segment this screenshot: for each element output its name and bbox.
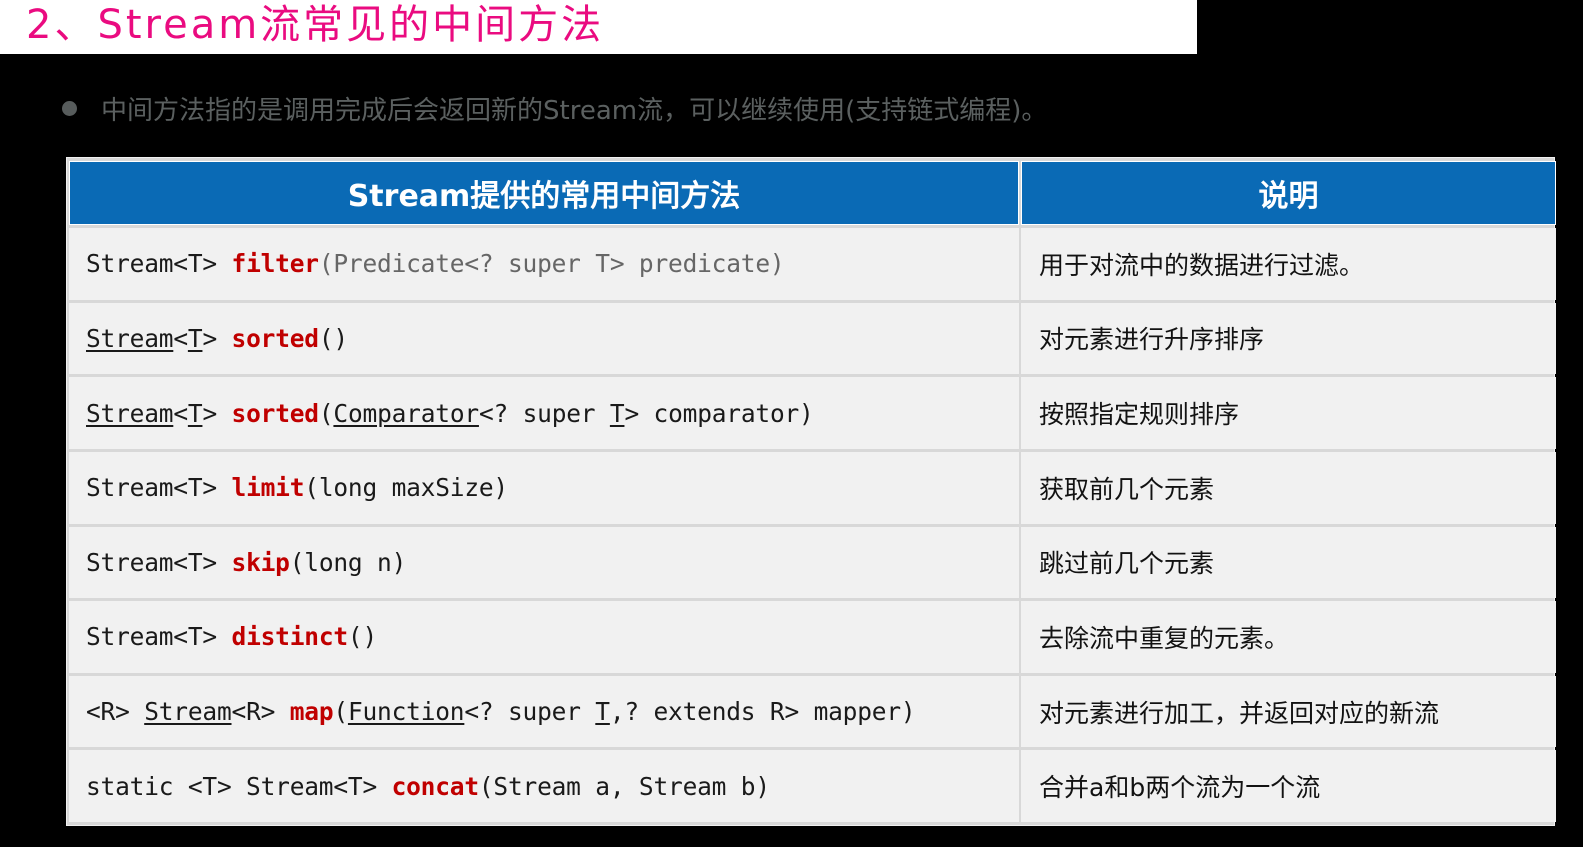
method-description-cell: 对元素进行加工，并返回对应的新流	[1021, 676, 1556, 748]
signature-text: >	[202, 399, 231, 428]
signature-text: (Stream a, Stream b)	[479, 772, 770, 801]
signature-type-link: Comparator	[333, 399, 479, 428]
method-description-cell: 按照指定规则排序	[1021, 377, 1556, 449]
table-header: Stream提供的常用中间方法 说明	[69, 161, 1556, 225]
method-name: sorted	[232, 324, 319, 353]
signature-text: >	[202, 324, 231, 353]
signature-text: Stream<T>	[86, 548, 232, 577]
intro-bullet-text: 中间方法指的是调用完成后会返回新的Stream流，可以继续使用(支持链式编程)。	[101, 90, 1047, 127]
title-band: 2、Stream流常见的中间方法	[0, 0, 1197, 54]
method-signature-cell: Stream<T> sorted()	[69, 303, 1019, 375]
signature-text: <	[173, 399, 188, 428]
intro-bullet-row: 中间方法指的是调用完成后会返回新的Stream流，可以继续使用(支持链式编程)。	[62, 87, 1047, 129]
signature-text: (	[333, 697, 348, 726]
table-row: Stream<T> sorted()对元素进行升序排序	[69, 303, 1556, 375]
method-description-cell: 对元素进行升序排序	[1021, 303, 1556, 375]
signature-type-link: T	[188, 399, 203, 428]
signature-params: (Predicate<? super T> predicate)	[319, 249, 785, 278]
signature-text: Stream<T>	[86, 249, 232, 278]
method-signature-cell: Stream<T> skip(long n)	[69, 527, 1019, 599]
signature-type-link: Function	[348, 697, 464, 726]
table-row: Stream<T> filter(Predicate<? super T> pr…	[69, 228, 1556, 300]
signature-text: <	[173, 324, 188, 353]
table-row: static <T> Stream<T> concat(Stream a, St…	[69, 750, 1556, 822]
signature-text: (	[319, 399, 334, 428]
table-row: Stream<T> skip(long n)跳过前几个元素	[69, 527, 1556, 599]
signature-text: <R>	[232, 697, 290, 726]
signature-text: <? super	[464, 697, 595, 726]
table-row: Stream<T> sorted(Comparator<? super T> c…	[69, 377, 1556, 449]
method-signature-cell: static <T> Stream<T> concat(Stream a, St…	[69, 750, 1019, 822]
method-signature-cell: Stream<T> limit(long maxSize)	[69, 452, 1019, 524]
table-row: Stream<T> limit(long maxSize)获取前几个元素	[69, 452, 1556, 524]
signature-text: (long n)	[290, 548, 406, 577]
signature-text: Stream<T>	[86, 473, 232, 502]
signature-type-link: T	[610, 399, 625, 428]
table-body: Stream<T> filter(Predicate<? super T> pr…	[69, 228, 1556, 822]
method-description-cell: 跳过前几个元素	[1021, 527, 1556, 599]
signature-text: > comparator)	[624, 399, 813, 428]
table-row: Stream<T> distinct()去除流中重复的元素。	[69, 601, 1556, 673]
method-name: limit	[232, 473, 305, 502]
method-name: map	[290, 697, 334, 726]
signature-text: <R>	[86, 697, 144, 726]
method-name: concat	[392, 772, 479, 801]
bullet-circle-icon	[62, 101, 77, 116]
signature-text: (long maxSize)	[304, 473, 508, 502]
method-signature-cell: <R> Stream<R> map(Function<? super T,? e…	[69, 676, 1019, 748]
signature-text: static <T> Stream<T>	[86, 772, 392, 801]
signature-type-link: Stream	[144, 697, 231, 726]
method-name: sorted	[232, 399, 319, 428]
method-name: filter	[232, 249, 319, 278]
method-signature-cell: Stream<T> distinct()	[69, 601, 1019, 673]
signature-type-link: T	[595, 697, 610, 726]
page-title: 2、Stream流常见的中间方法	[26, 0, 604, 52]
method-description-cell: 去除流中重复的元素。	[1021, 601, 1556, 673]
method-description-cell: 获取前几个元素	[1021, 452, 1556, 524]
signature-type-link: Stream	[86, 399, 173, 428]
method-description-cell: 用于对流中的数据进行过滤。	[1021, 228, 1556, 300]
method-signature-cell: Stream<T> sorted(Comparator<? super T> c…	[69, 377, 1019, 449]
method-name: skip	[232, 548, 290, 577]
signature-type-link: T	[188, 324, 203, 353]
signature-text: Stream<T>	[86, 622, 232, 651]
column-header-methods: Stream提供的常用中间方法	[69, 161, 1019, 225]
method-signature-cell: Stream<T> filter(Predicate<? super T> pr…	[69, 228, 1019, 300]
table-row: <R> Stream<R> map(Function<? super T,? e…	[69, 676, 1556, 748]
signature-type-link: Stream	[86, 324, 173, 353]
method-description-cell: 合并a和b两个流为一个流	[1021, 750, 1556, 822]
signature-text: ()	[348, 622, 377, 651]
signature-text: ()	[319, 324, 348, 353]
methods-table: Stream提供的常用中间方法 说明 Stream<T> filter(Pred…	[67, 158, 1558, 825]
methods-table-container: Stream提供的常用中间方法 说明 Stream<T> filter(Pred…	[66, 157, 1555, 826]
signature-text: ,? extends R> mapper)	[610, 697, 916, 726]
table-header-row: Stream提供的常用中间方法 说明	[69, 161, 1556, 225]
signature-text: <? super	[479, 399, 610, 428]
method-name: distinct	[232, 622, 348, 651]
column-header-description: 说明	[1021, 161, 1556, 225]
